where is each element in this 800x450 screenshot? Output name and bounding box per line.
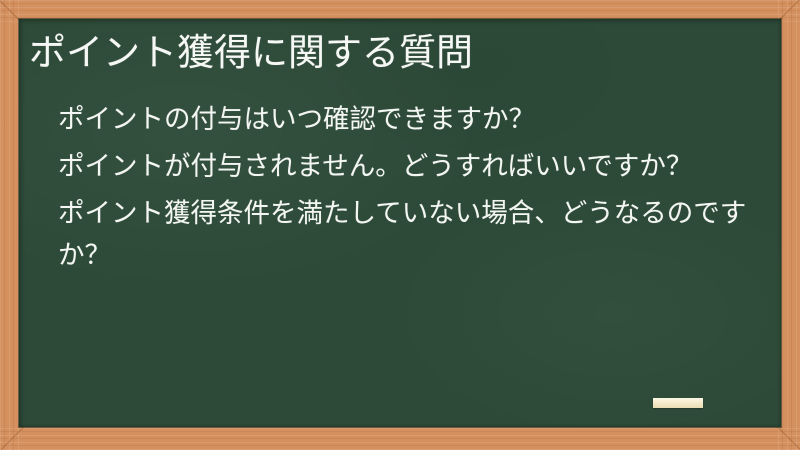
chalkboard-slide: ポイント獲得に関する質問 ポイントの付与はいつ確認できますか？ ポイントが付与さ…: [0, 0, 800, 450]
slide-title: ポイント獲得に関する質問: [29, 27, 769, 79]
frame-rail-bottom: [0, 428, 800, 450]
frame-stile-right: [778, 0, 800, 450]
question-item: ポイントが付与されません。どうすればいいですか？: [19, 146, 781, 188]
question-item: ポイントの付与はいつ確認できますか？: [19, 99, 781, 141]
board-content: ポイント獲得に関する質問 ポイントの付与はいつ確認できますか？ ポイントが付与さ…: [19, 19, 781, 427]
chalk-stick-icon: [653, 398, 703, 408]
question-list: ポイントの付与はいつ確認できますか？ ポイントが付与されません。どうすればいいで…: [19, 99, 781, 282]
chalkboard-surface: ポイント獲得に関する質問 ポイントの付与はいつ確認できますか？ ポイントが付与さ…: [19, 19, 781, 427]
question-item: ポイント獲得条件を満たしていない場合、どうなるのですか？: [19, 193, 781, 277]
